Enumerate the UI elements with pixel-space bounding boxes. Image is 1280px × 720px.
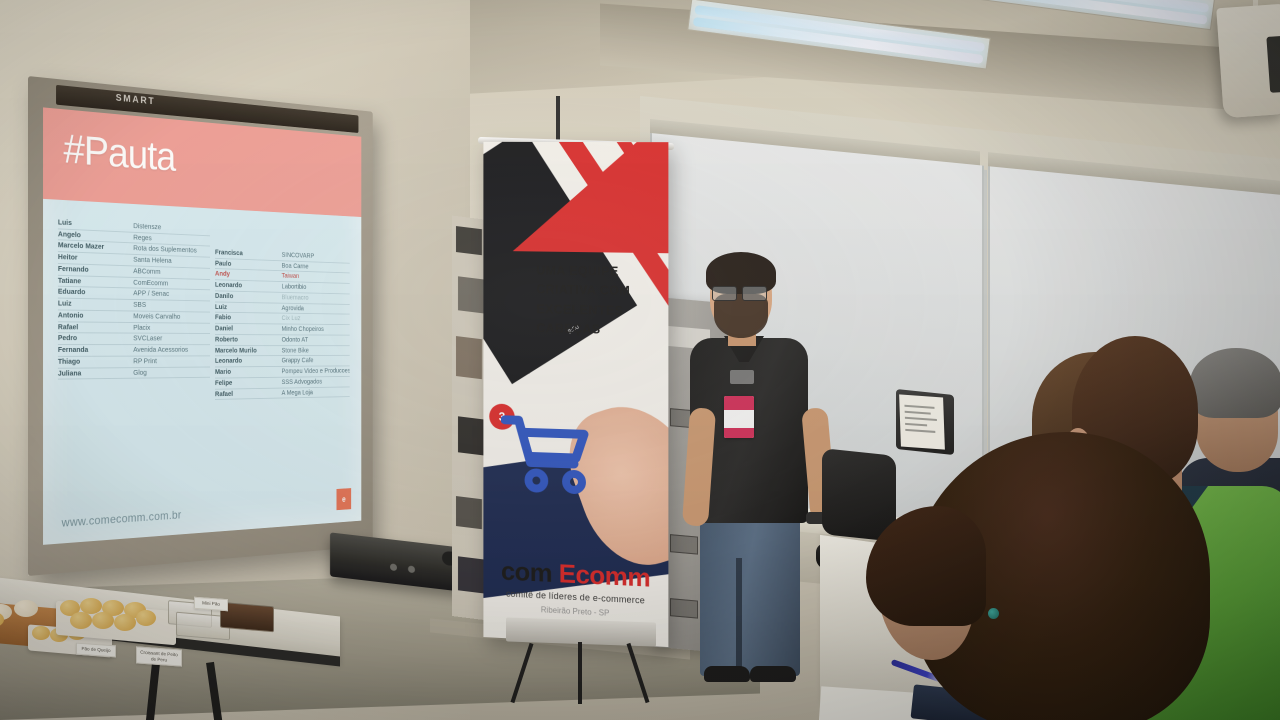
poster-5: [456, 496, 482, 529]
agenda-person-name: Tatiane: [58, 276, 133, 286]
banner-slogan-line: CRIATIVA COM: [536, 281, 654, 302]
woman-hair-front: [866, 506, 986, 626]
agenda-row: Marcelo MuriloStone Bike: [215, 346, 350, 357]
agenda-person-org: Minho Chopeiros: [282, 325, 350, 333]
agenda-row: RafaelA Mega Loja: [215, 387, 350, 400]
agenda-person-name: Leonardo: [215, 357, 282, 365]
agenda-person-name: Francisca: [215, 249, 282, 260]
agenda-person-name: Fabio: [215, 314, 282, 323]
poster-2: [458, 276, 484, 313]
packaged-brownies: [220, 602, 274, 633]
agenda-person-name: Angelo: [58, 230, 133, 242]
bread-roll: [32, 626, 50, 640]
agenda-row: JulianaGlog: [58, 367, 210, 380]
agenda-person-org: Labortibio: [282, 283, 350, 293]
earring: [988, 608, 999, 619]
agenda-person-name: Luiz: [58, 300, 133, 310]
agenda-person-org: Moveis Carvalho: [133, 312, 210, 321]
badge-bottom-band: [724, 428, 754, 438]
agenda-person-org: Glog: [133, 368, 210, 377]
badge-top-band: [724, 396, 754, 410]
agenda-person-org: SVCLaser: [133, 335, 210, 343]
agenda-person-org: RP Print: [133, 357, 210, 366]
agenda-person-org: Bluemacro: [282, 294, 350, 303]
banner-slogan-line: CABEÇAS: [536, 319, 654, 341]
presenter: [688, 258, 828, 678]
air-conditioner: [1216, 4, 1280, 118]
agenda-person-name: Mario: [215, 368, 282, 377]
slide-corner-logo: e: [337, 488, 352, 510]
agenda-column-right: FranciscaSINCOVARPPauloBoa CarneAndyTaiw…: [215, 225, 350, 518]
catering-table: Pão de Queijo Croissant de Peito de Peru…: [0, 596, 340, 720]
agenda-row: FernandaAvenida Acessorios: [58, 345, 210, 357]
rollup-banner: 8:30 3 UMA EQUIPECRIATIVA COMEXCELENTESC…: [483, 142, 668, 647]
agenda-person-org: Grappy Cafe: [282, 357, 350, 365]
logo-prefix: com: [501, 556, 559, 589]
agenda-person-name: Luiz: [215, 303, 282, 312]
agenda-person-org: Pompeu Video e Producoes: [282, 367, 350, 375]
table-leg-left: [144, 658, 161, 720]
audience-woman-foreground: [860, 432, 1220, 720]
agenda-person-org: Stone Bike: [282, 347, 350, 355]
agenda-person-org: SSS Advogados: [282, 378, 350, 387]
agenda-person-name: Danilo: [215, 292, 282, 301]
food-label-croissant: Croissant de Peito de Peru: [136, 646, 182, 667]
poster-3: [456, 336, 482, 379]
banner-logo-panel: com Ecomm comitê de líderes de e-commerc…: [491, 555, 660, 620]
agenda-person-name: Leonardo: [215, 281, 282, 291]
agenda-person-name: Juliana: [58, 369, 133, 378]
agenda-person-org: Placix: [133, 324, 210, 333]
ac-vent: [1266, 36, 1280, 93]
agenda-person-org: SINCOVARP: [282, 251, 350, 261]
glasses-lens-left: [712, 286, 737, 301]
tray-button-1[interactable]: [390, 563, 397, 571]
presenter-leg-split: [736, 558, 742, 676]
presenter-shoe-right: [750, 666, 796, 682]
agenda-person-name: Paulo: [215, 259, 282, 269]
glasses-icon: [712, 286, 772, 299]
agenda-person-org: Odonto AT: [282, 336, 350, 344]
agenda-person-name: Marcelo Murilo: [215, 347, 282, 355]
banner-slogan-line: UMA EQUIPE: [536, 261, 654, 282]
agenda-person-name: Felipe: [215, 378, 282, 387]
agenda-person-name: Eduardo: [58, 288, 133, 298]
tray-button-2[interactable]: [408, 565, 415, 573]
pastry: [70, 612, 92, 629]
agenda-person-name: Thiago: [58, 357, 133, 366]
tripod-leg-center: [578, 642, 582, 704]
agenda-person-name: Fernanda: [58, 346, 133, 355]
presenter-name-badge: [724, 396, 754, 438]
agenda-person-org: SBS: [133, 301, 210, 311]
agenda-person-name: Daniel: [215, 325, 282, 333]
agenda-row: DanielMinho Chopeiros: [215, 324, 350, 336]
agenda-person-name: Marcelo Mazer: [58, 242, 133, 253]
agenda-person-name: Heitor: [58, 253, 133, 264]
agenda-person-org: Cix Luz: [282, 315, 350, 324]
food-label-mini-pao: Mini Pão: [194, 597, 228, 611]
agenda-person-org: A Mega Loja: [282, 388, 350, 397]
smart-whiteboard[interactable]: SMART #Pauta LuisDistenszeAngeloRegesMar…: [28, 76, 373, 576]
agenda-person-org: Boa Carne: [282, 262, 350, 272]
presenter-shirt-logo: [730, 370, 754, 384]
agenda-column-left: LuisDistenszeAngeloRegesMarcelo MazerRot…: [58, 217, 210, 529]
slide-title: #Pauta: [63, 125, 175, 180]
poster-6: [458, 556, 484, 593]
agenda-person-name: Andy: [215, 270, 282, 280]
agenda-row: RobertoOdonto AT: [215, 335, 350, 346]
logo-accent: Ecomm: [559, 558, 650, 592]
agenda-person-name: Rafael: [215, 389, 282, 398]
poster-4: [458, 416, 484, 455]
banner-slogan-line: EXCELENTES: [536, 300, 654, 322]
agenda-person-name: Antonio: [58, 311, 133, 320]
projected-slide: #Pauta LuisDistenszeAngeloRegesMarcelo M…: [43, 107, 361, 544]
agenda-row: PedroSVCLaser: [58, 334, 210, 346]
agenda-person-name: Roberto: [215, 336, 282, 344]
agenda-person-name: Pedro: [58, 334, 133, 343]
pastry: [92, 612, 114, 629]
shopping-cart-icon: [501, 412, 596, 495]
agenda-person-org: ComEcomm: [133, 279, 210, 289]
glasses-lens-right: [742, 286, 767, 301]
agenda-person-org: Santa Helena: [133, 256, 210, 267]
slide-agenda-table: LuisDistenszeAngeloRegesMarcelo MazerRot…: [43, 203, 361, 545]
agenda-person-name: Fernando: [58, 265, 133, 276]
agenda-person-org: APP / Senac: [133, 290, 210, 300]
agenda-person-org: Avenida Acessorios: [133, 346, 210, 354]
agenda-person-org: Agrovida: [282, 304, 350, 313]
presenter-jeans: [700, 516, 800, 676]
banner-tripod: [520, 642, 640, 712]
agenda-person-name: Rafael: [58, 323, 133, 332]
presenter-shoe-left: [704, 666, 750, 682]
bread-roll: [14, 600, 38, 617]
agenda-row: RafaelPlacix: [58, 322, 210, 334]
agenda-person-org: Rota dos Suplementos: [133, 245, 210, 256]
pastry: [114, 614, 136, 631]
table-leg-right: [206, 662, 226, 720]
photo-scene: SMART #Pauta LuisDistenszeAngeloRegesMar…: [0, 0, 1280, 720]
agenda-person-org: Taiwan: [282, 272, 350, 282]
poster-1: [456, 226, 482, 255]
agenda-person-org: ABComm: [133, 267, 210, 278]
banner-slogan: UMA EQUIPECRIATIVA COMEXCELENTESCABEÇAS: [536, 261, 654, 341]
pastry: [136, 610, 156, 626]
